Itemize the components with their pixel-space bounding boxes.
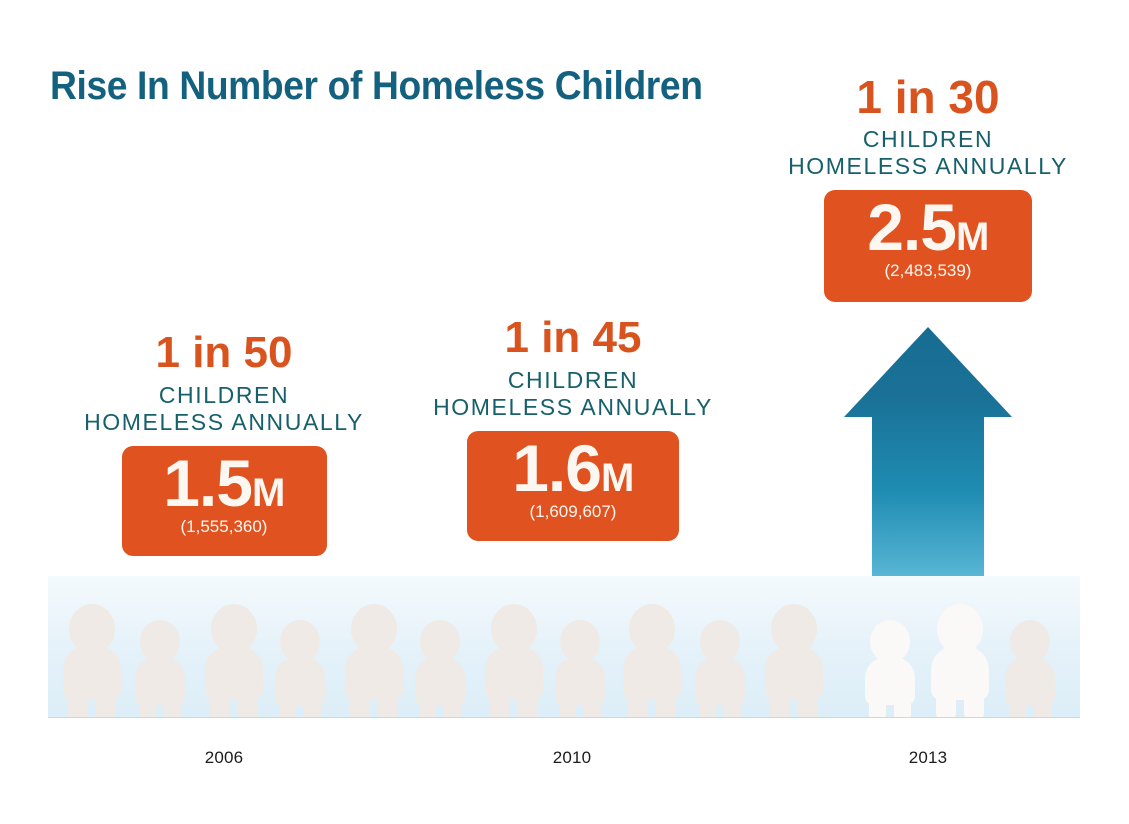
person-leg	[869, 692, 886, 718]
person-leg	[139, 692, 156, 718]
person-leg	[1034, 692, 1051, 718]
person-leg	[798, 688, 818, 718]
person-figure	[345, 604, 403, 718]
value-big-2013: 2.5	[867, 190, 956, 264]
caption-line1-2006: CHILDREN	[64, 382, 384, 409]
caption-line2-2006: HOMELESS ANNUALLY	[64, 409, 384, 436]
value-unit-2006: M	[252, 471, 285, 515]
ratio-label-2010: 1 in 45	[413, 315, 733, 361]
person-leg	[490, 688, 510, 718]
person-figure	[765, 604, 823, 718]
person-figure	[695, 620, 745, 718]
year-label-2006: 2006	[184, 748, 264, 768]
person-leg	[1009, 692, 1026, 718]
person-figure	[275, 620, 325, 718]
person-figure	[205, 604, 263, 718]
ratio-label-2013: 1 in 30	[768, 74, 1088, 120]
value-line-2006: 1.5M	[122, 452, 327, 515]
person-leg	[304, 692, 321, 718]
person-leg	[378, 688, 398, 718]
value-box-2006: 1.5M (1,555,360)	[122, 446, 327, 556]
person-figure	[865, 620, 915, 718]
caption-line2-2013: HOMELESS ANNUALLY	[768, 153, 1088, 180]
person-leg	[964, 688, 984, 718]
value-exact-2006: (1,555,360)	[122, 517, 327, 537]
person-leg	[68, 688, 88, 718]
value-big-2010: 1.6	[512, 431, 601, 505]
infographic-canvas: Rise In Number of Homeless Children 1 in…	[0, 0, 1129, 824]
value-big-2006: 1.5	[163, 446, 252, 520]
band-baseline-divider	[48, 717, 1080, 718]
person-leg	[770, 688, 790, 718]
value-unit-2013: M	[956, 215, 989, 259]
person-leg	[936, 688, 956, 718]
person-leg	[518, 688, 538, 718]
person-figure	[485, 604, 543, 718]
person-leg	[279, 692, 296, 718]
stat-group-2013: 1 in 30 CHILDREN HOMELESS ANNUALLY 2.5M …	[768, 74, 1088, 302]
person-leg	[628, 688, 648, 718]
person-figure	[931, 604, 989, 718]
person-figure	[555, 620, 605, 718]
value-exact-2010: (1,609,607)	[467, 502, 679, 522]
people-crowd-icon	[48, 576, 1080, 718]
person-leg	[444, 692, 461, 718]
person-leg	[584, 692, 601, 718]
person-figure	[135, 620, 185, 718]
person-leg	[350, 688, 370, 718]
value-box-2010: 1.6M (1,609,607)	[467, 431, 679, 541]
person-figure	[63, 604, 121, 718]
caption-line2-2010: HOMELESS ANNUALLY	[413, 394, 733, 421]
person-leg	[559, 692, 576, 718]
value-line-2013: 2.5M	[824, 196, 1032, 259]
value-line-2010: 1.6M	[467, 437, 679, 500]
person-leg	[164, 692, 181, 718]
caption-line1-2013: CHILDREN	[768, 126, 1088, 153]
page-title: Rise In Number of Homeless Children	[50, 64, 703, 109]
stat-group-2006: 1 in 50 CHILDREN HOMELESS ANNUALLY 1.5M …	[64, 330, 384, 556]
value-unit-2010: M	[601, 456, 634, 500]
person-leg	[96, 688, 116, 718]
value-box-2013: 2.5M (2,483,539)	[824, 190, 1032, 302]
year-label-2013: 2013	[888, 748, 968, 768]
value-exact-2013: (2,483,539)	[824, 261, 1032, 281]
stat-group-2010: 1 in 45 CHILDREN HOMELESS ANNUALLY 1.6M …	[413, 315, 733, 541]
person-leg	[238, 688, 258, 718]
person-leg	[656, 688, 676, 718]
year-label-2010: 2010	[532, 748, 612, 768]
person-leg	[894, 692, 911, 718]
person-leg	[419, 692, 436, 718]
person-figure	[623, 604, 681, 718]
caption-line1-2010: CHILDREN	[413, 367, 733, 394]
person-leg	[210, 688, 230, 718]
person-figure	[415, 620, 465, 718]
person-figure	[1005, 620, 1055, 718]
person-leg	[724, 692, 741, 718]
ratio-label-2006: 1 in 50	[64, 330, 384, 376]
person-leg	[699, 692, 716, 718]
